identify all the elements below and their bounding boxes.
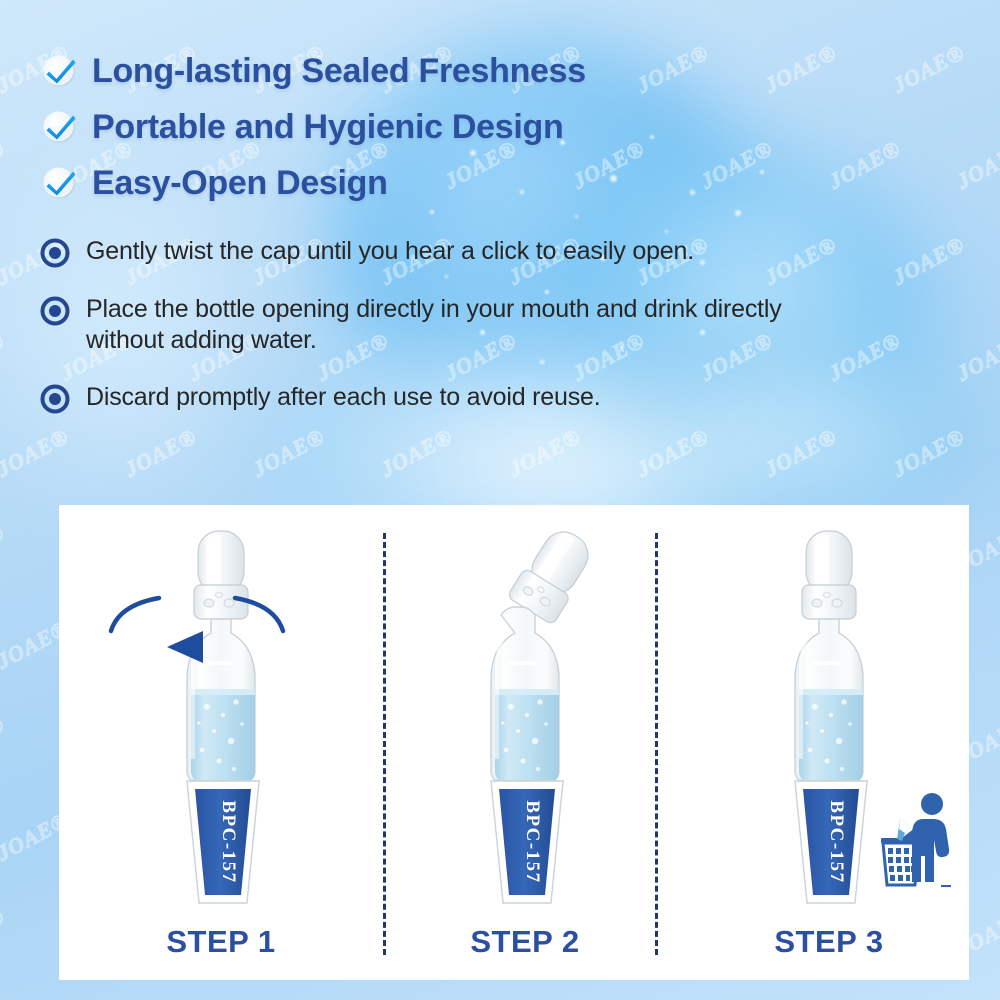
step-1: BPC-157 STEP 1	[71, 505, 371, 980]
check-icon	[40, 51, 80, 91]
bottle-cap	[802, 531, 856, 619]
instruction-item: Place the bottle opening directly in you…	[40, 294, 830, 356]
background-sparkle	[575, 215, 578, 218]
background-sparkle	[665, 230, 668, 233]
check-icon	[40, 107, 80, 147]
step-label: STEP 1	[71, 924, 371, 960]
bottle-label-text: BPC-157	[218, 800, 239, 883]
dispose-in-bin-icon	[879, 791, 963, 887]
background-sparkle	[760, 170, 764, 174]
bottle-cap	[194, 531, 248, 619]
bottle-illustration-step-1: BPC-157	[71, 519, 371, 919]
feature-heading-label: Portable and Hygienic Design	[92, 108, 564, 146]
step-label: STEP 3	[679, 924, 979, 960]
instruction-item: Discard promptly after each use to avoid…	[40, 382, 830, 414]
step-label: STEP 2	[375, 924, 675, 960]
feature-heading-list: Long-lasting Sealed Freshness Portable a…	[40, 44, 660, 212]
instruction-text: Gently twist the cap until you hear a cl…	[86, 236, 694, 267]
step-3: BPC-157	[679, 505, 979, 980]
feature-heading-row: Portable and Hygienic Design	[40, 100, 660, 154]
background-sparkle	[690, 190, 695, 195]
radio-bullet-icon	[40, 384, 70, 414]
bottle-label-text: BPC-157	[522, 800, 543, 883]
infographic-stage: JOAE®JOAE®JOAE®JOAE®JOAE®JOAE®JOAE®JOAE®…	[0, 0, 1000, 1000]
rotation-arrow-head	[167, 631, 203, 663]
instruction-text: Place the bottle opening directly in you…	[86, 294, 816, 356]
instruction-item: Gently twist the cap until you hear a cl…	[40, 236, 830, 268]
feature-heading-label: Long-lasting Sealed Freshness	[92, 52, 586, 90]
check-icon	[40, 163, 80, 203]
radio-bullet-icon	[40, 238, 70, 268]
instruction-text: Discard promptly after each use to avoid…	[86, 382, 600, 413]
bottle-label-text: BPC-157	[826, 800, 847, 883]
radio-bullet-icon	[40, 296, 70, 326]
step-2: BPC-157 STEP 2	[375, 505, 675, 980]
feature-heading-row: Long-lasting Sealed Freshness	[40, 44, 660, 98]
bottle-illustration-step-2: BPC-157	[375, 519, 675, 919]
background-sparkle	[735, 210, 741, 216]
feature-heading-row: Easy-Open Design	[40, 156, 660, 210]
feature-heading-label: Easy-Open Design	[92, 164, 388, 202]
steps-panel: BPC-157 STEP 1	[59, 505, 969, 980]
instruction-list: Gently twist the cap until you hear a cl…	[40, 236, 830, 440]
